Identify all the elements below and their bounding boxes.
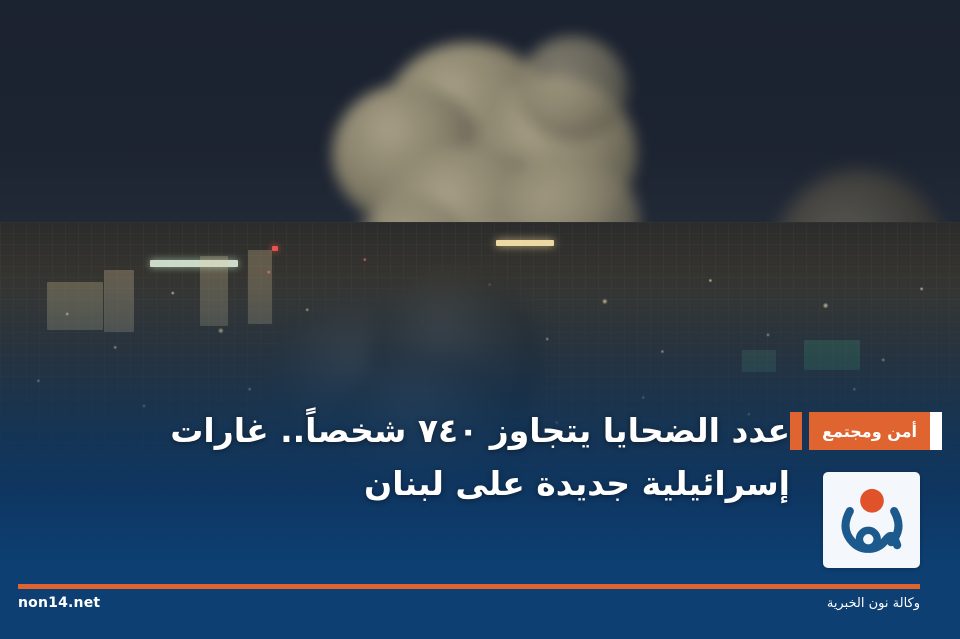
news-card: عدد الضحايا يتجاوز ٧٤٠ شخصاً.. غارات إسر… — [0, 0, 960, 639]
noon-logo-mark — [835, 483, 909, 557]
logo-loop — [859, 530, 877, 548]
noon-agency-logo[interactable] — [823, 472, 920, 568]
category-badge-label: أمن ومجتمع — [809, 412, 930, 450]
category-badge[interactable]: أمن ومجتمع — [790, 412, 942, 450]
headline-block: عدد الضحايا يتجاوز ٧٤٠ شخصاً.. غارات إسر… — [60, 404, 790, 510]
headline-line-2: إسرائيلية جديدة على لبنان — [60, 457, 790, 510]
footer-divider-rule — [18, 584, 920, 589]
badge-orange-tick — [790, 412, 802, 450]
footer-agency-name: وكالة نون الخبرية — [827, 596, 920, 611]
logo-orange-dot — [860, 489, 884, 513]
badge-white-cap — [930, 412, 942, 450]
blue-gradient-overlay — [0, 0, 960, 639]
footer-bar — [0, 564, 960, 639]
headline-line-1: عدد الضحايا يتجاوز ٧٤٠ شخصاً.. غارات — [60, 404, 790, 457]
logo-left-arm — [845, 511, 852, 542]
footer-site-url[interactable]: non14.net — [18, 595, 100, 611]
